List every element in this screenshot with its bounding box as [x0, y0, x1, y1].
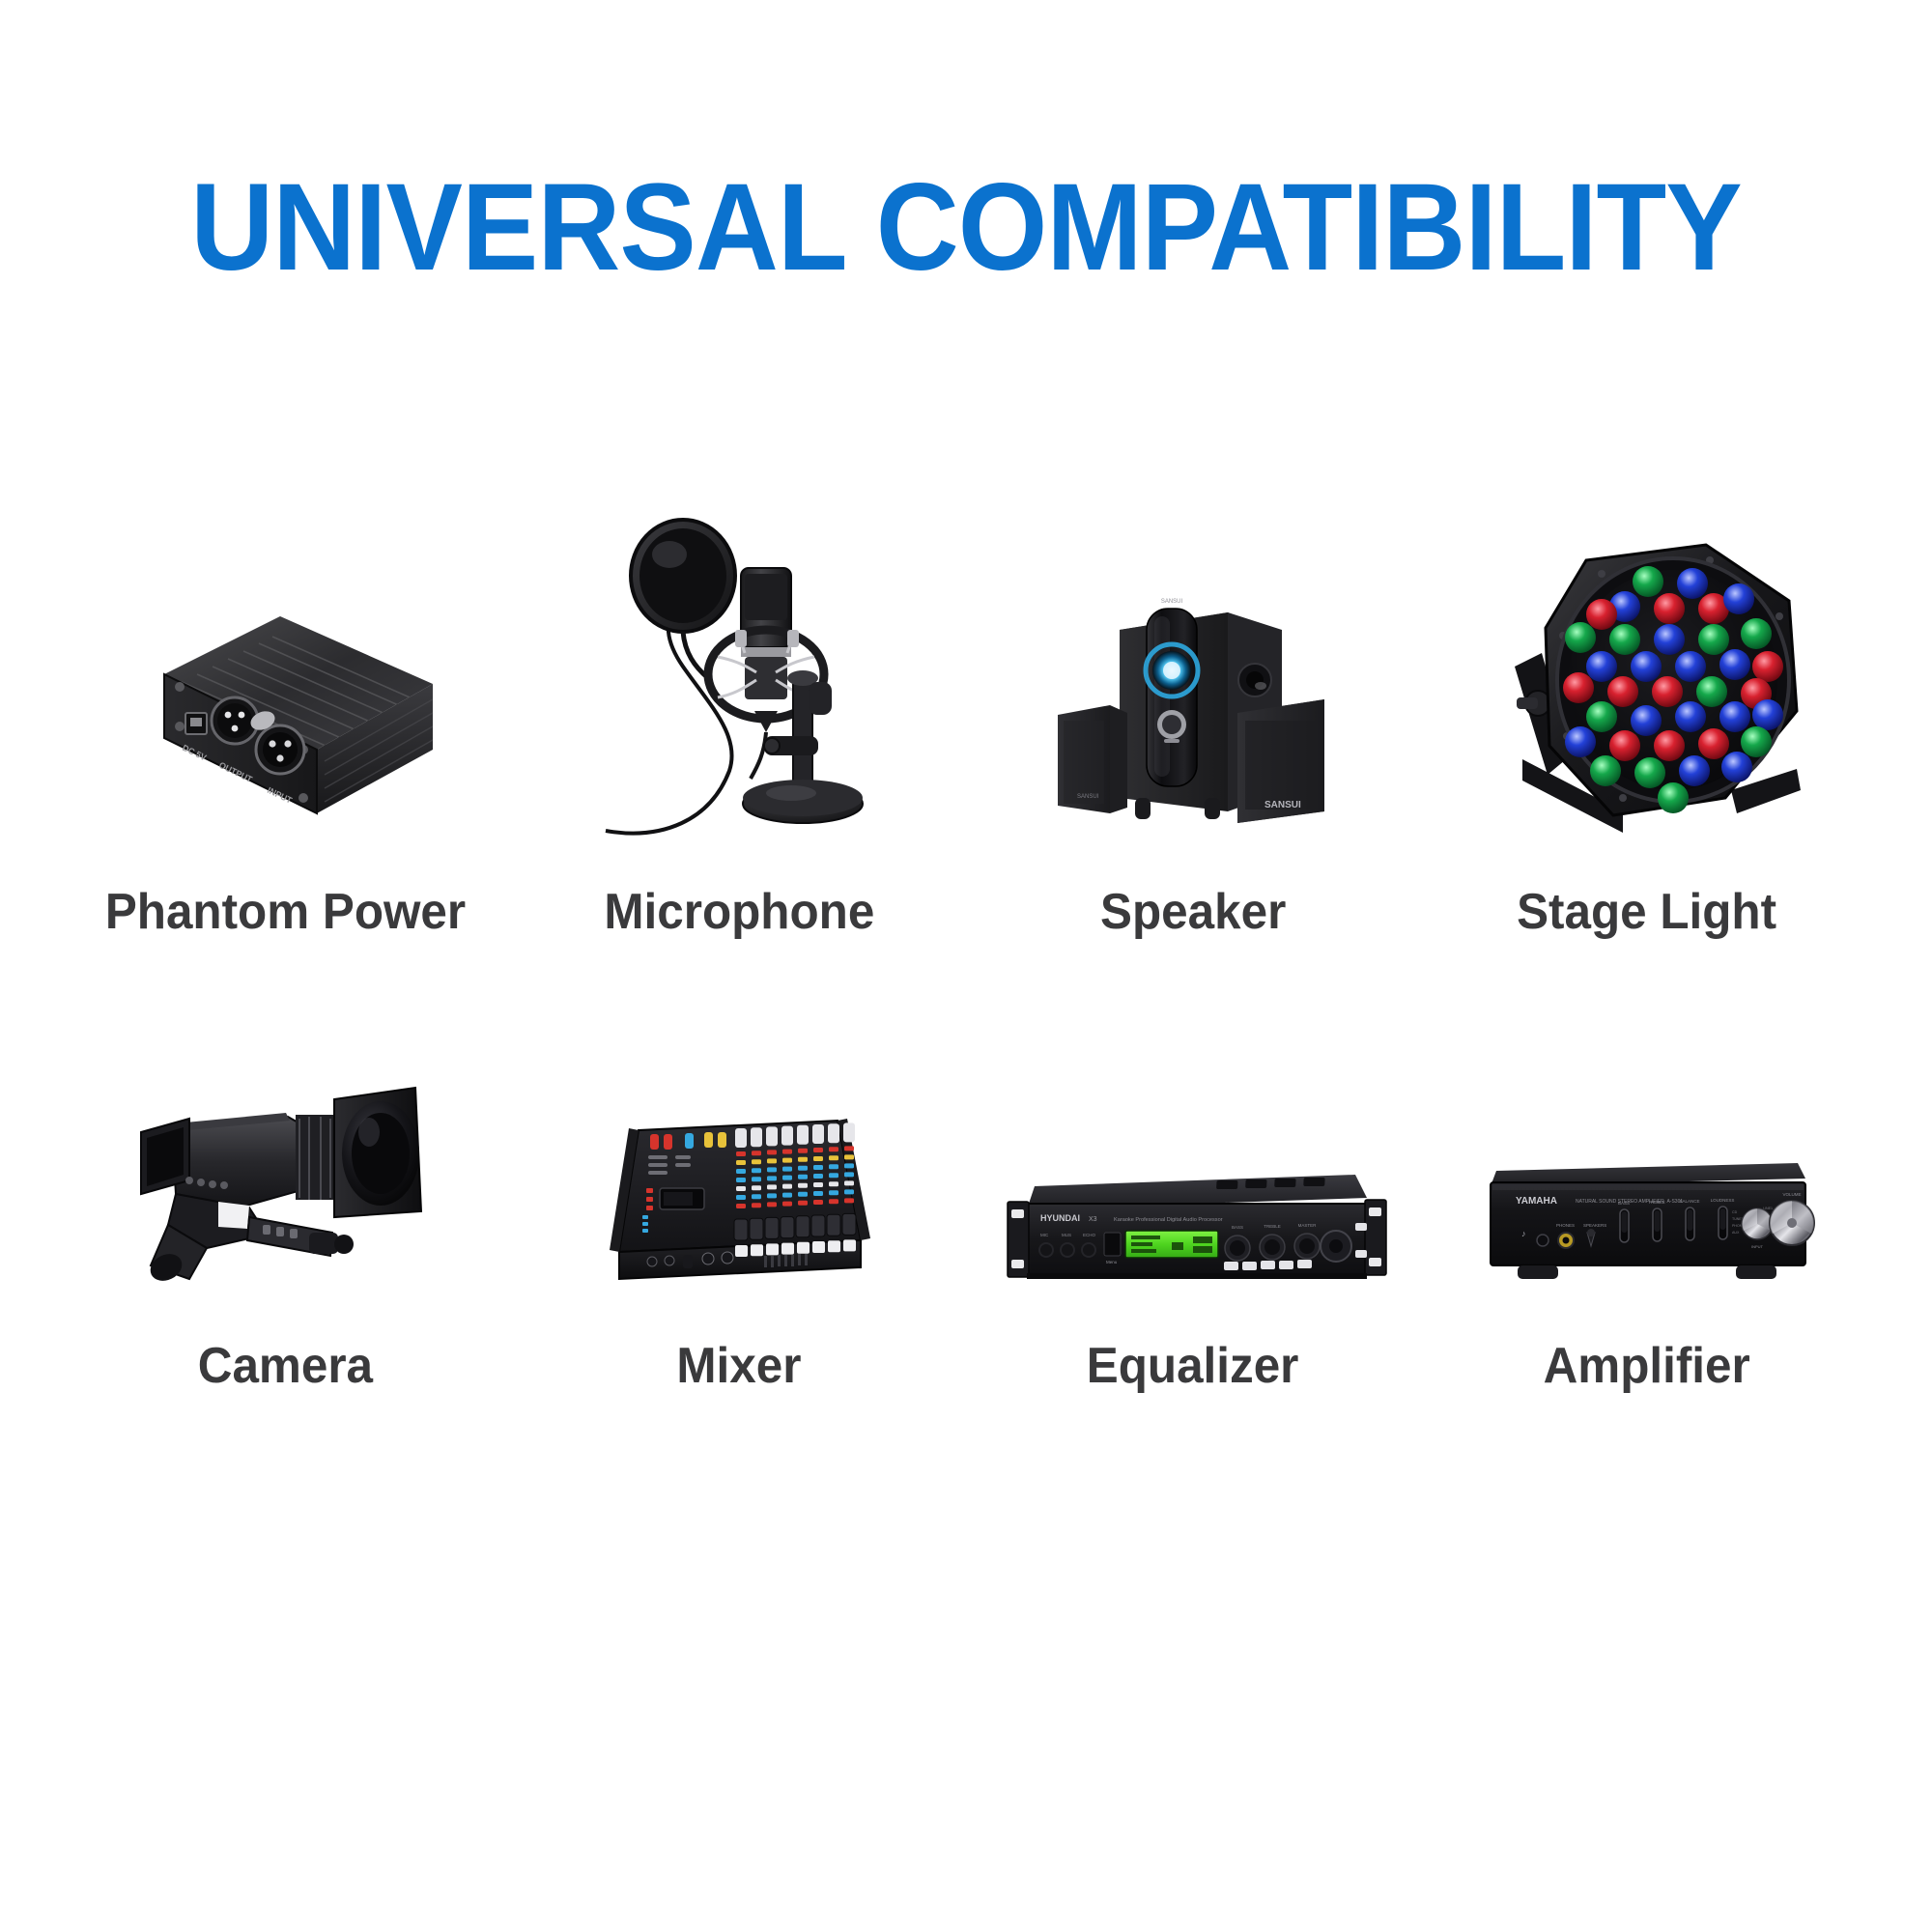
page-title: UNIVERSAL COMPATIBILITY — [68, 166, 1864, 290]
svg-text:VOLUME: VOLUME — [1782, 1192, 1801, 1197]
product-art — [1420, 502, 1874, 850]
rack-equalizer-icon: HYUNDAI X3 Karaoke Professional Digital … — [1000, 1153, 1386, 1298]
page-title-wrap: UNIVERSAL COMPATIBILITY — [0, 166, 1932, 290]
product-art: SANSUI SANSUI SANSUI — [966, 502, 1420, 850]
product-grid: DC 5V OUTPUT INPUT Phantom Power — [58, 502, 1874, 1395]
product-cell-equalizer: HYUNDAI X3 Karaoke Professional Digital … — [966, 1057, 1420, 1395]
marking-sansui-right: SANSUI — [1264, 800, 1301, 810]
product-label: Amplifier — [1544, 1337, 1750, 1395]
product-cell-stage-light: Stage Light — [1420, 502, 1874, 941]
marking-brand: HYUNDAI — [1040, 1213, 1080, 1223]
marking-sansui-left: SANSUI — [1077, 794, 1099, 800]
product-art: HYUNDAI X3 Karaoke Professional Digital … — [966, 1057, 1420, 1298]
phantom-power-supply-icon: DC 5V OUTPUT INPUT — [126, 560, 444, 850]
marking-brand: YAMAHA — [1516, 1196, 1557, 1207]
svg-text:MIC: MIC — [1040, 1233, 1049, 1237]
speaker-system-icon: SANSUI SANSUI SANSUI — [1038, 570, 1348, 850]
svg-text:♪: ♪ — [1521, 1229, 1526, 1238]
video-camcorder-icon — [126, 1057, 444, 1298]
product-label: Microphone — [604, 883, 874, 941]
svg-text:LOUDNESS: LOUDNESS — [1711, 1198, 1735, 1203]
svg-text:TREBLE: TREBLE — [1648, 1200, 1665, 1205]
product-art — [58, 1057, 512, 1298]
marking-subtitle: Karaoke Professional Digital Audio Proce… — [1114, 1217, 1223, 1223]
stage-par-light-icon — [1478, 531, 1816, 850]
product-cell-camera: Camera — [58, 1057, 512, 1395]
svg-text:SPEAKERS: SPEAKERS — [1583, 1223, 1606, 1228]
product-label: Mixer — [676, 1337, 801, 1395]
svg-text:TREBLE: TREBLE — [1264, 1224, 1281, 1229]
product-row: Camera — [58, 1057, 1874, 1395]
svg-text:MASTER: MASTER — [1298, 1223, 1318, 1228]
condenser-microphone-icon — [594, 512, 884, 850]
product-cell-phantom-power: DC 5V OUTPUT INPUT Phantom Power — [58, 502, 512, 941]
audio-mixer-icon — [594, 1095, 884, 1298]
marking-model: X3 — [1089, 1216, 1097, 1223]
svg-text:Menu: Menu — [1106, 1260, 1118, 1264]
product-label: Phantom Power — [104, 883, 465, 941]
svg-text:BALANCE: BALANCE — [1679, 1199, 1699, 1204]
svg-text:INPUT: INPUT — [1751, 1244, 1764, 1249]
svg-text:AUX: AUX — [1732, 1231, 1740, 1235]
product-cell-microphone: Microphone — [512, 502, 966, 941]
product-art: YAMAHA NATURAL SOUND STEREO AMPLIFIER A-… — [1420, 1057, 1874, 1298]
product-label: Stage Light — [1518, 883, 1777, 941]
product-art — [512, 502, 966, 850]
product-row: DC 5V OUTPUT INPUT Phantom Power — [58, 502, 1874, 941]
product-art — [512, 1057, 966, 1298]
product-cell-mixer: Mixer — [512, 1057, 966, 1395]
svg-text:ECHO: ECHO — [1083, 1233, 1096, 1237]
svg-text:CD: CD — [1732, 1210, 1738, 1214]
svg-text:BASS: BASS — [1618, 1201, 1630, 1206]
svg-text:MUS: MUS — [1062, 1233, 1071, 1237]
product-art: DC 5V OUTPUT INPUT — [58, 502, 512, 850]
svg-text:BASS: BASS — [1232, 1225, 1243, 1230]
product-label: Equalizer — [1087, 1337, 1299, 1395]
svg-text:PHONES: PHONES — [1556, 1223, 1575, 1228]
integrated-amplifier-icon: YAMAHA NATURAL SOUND STEREO AMPLIFIER A-… — [1473, 1144, 1821, 1298]
product-label: Speaker — [1100, 883, 1286, 941]
product-cell-speaker: SANSUI SANSUI SANSUI Speaker — [966, 502, 1420, 941]
product-label: Camera — [197, 1337, 372, 1395]
product-cell-amplifier: YAMAHA NATURAL SOUND STEREO AMPLIFIER A-… — [1420, 1057, 1874, 1395]
marking-sansui-top: SANSUI — [1161, 599, 1183, 605]
infographic-page: UNIVERSAL COMPATIBILITY — [0, 0, 1932, 1932]
